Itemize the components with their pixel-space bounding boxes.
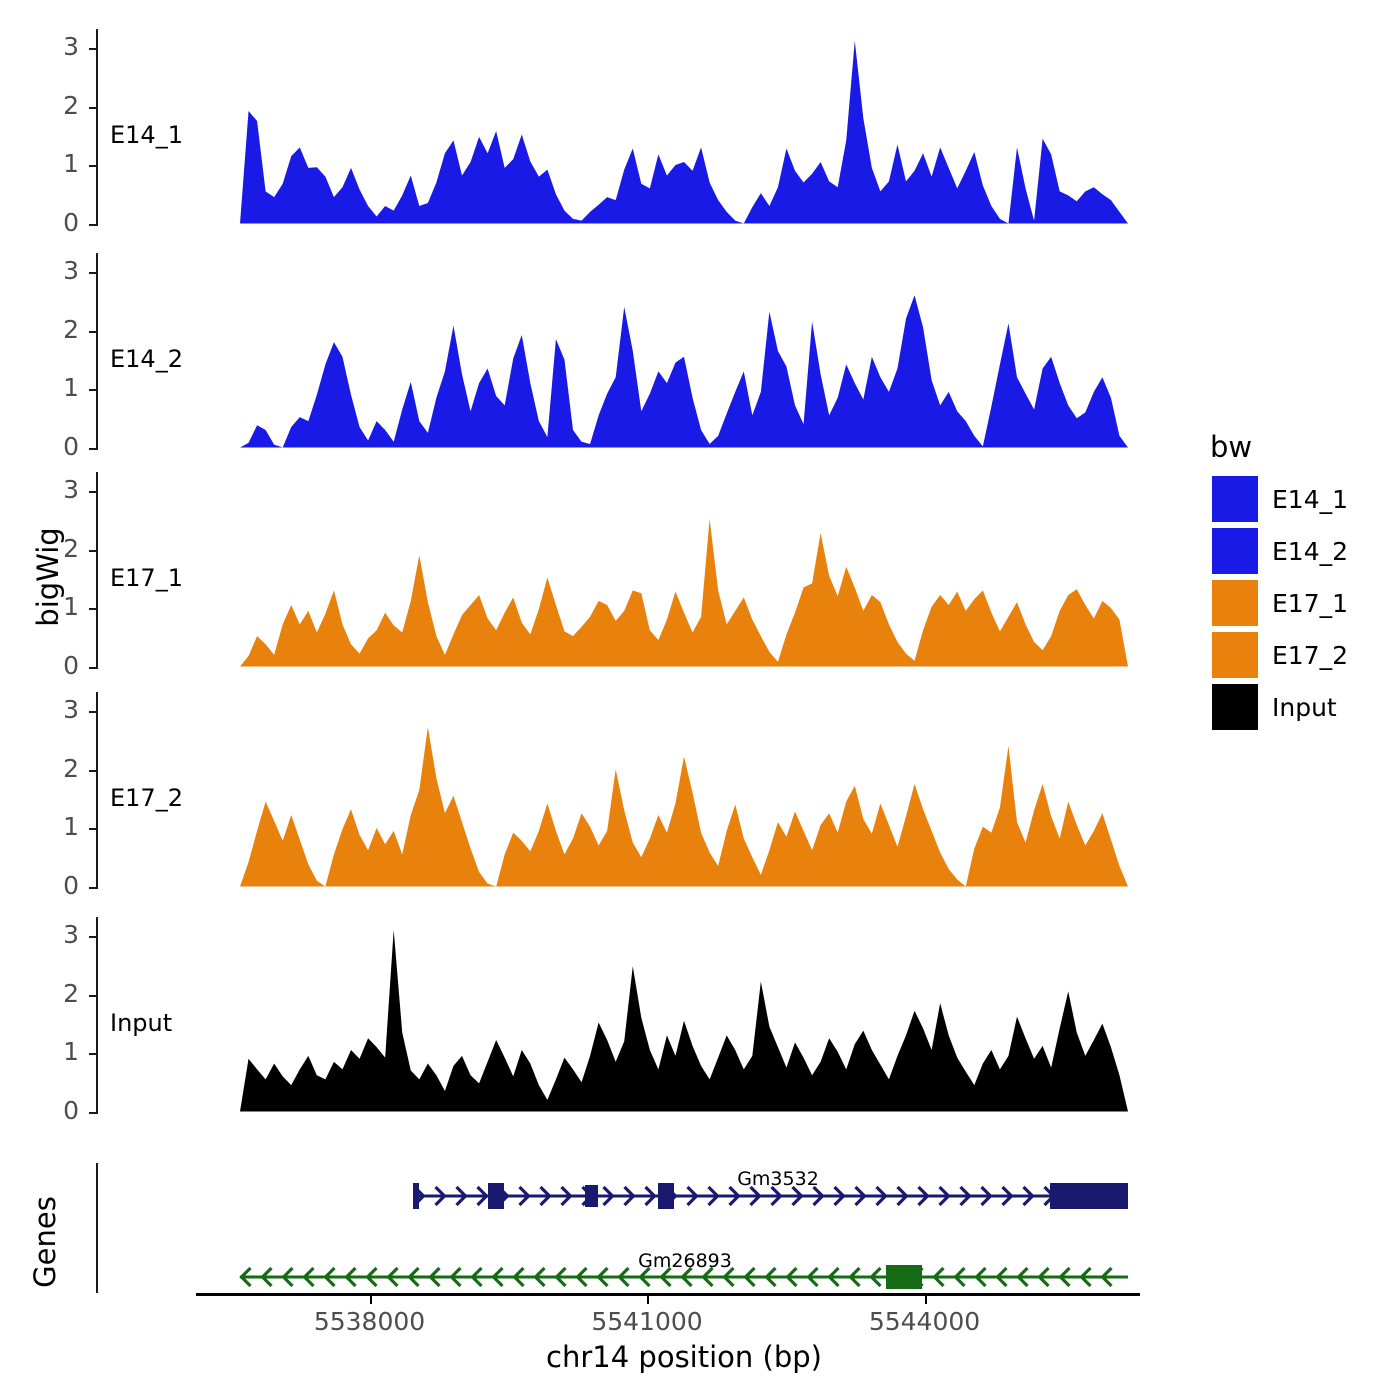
y-axis-line — [96, 917, 98, 1114]
legend-key-e14_2[interactable] — [1212, 528, 1258, 574]
x-axis-title: chr14 position (bp) — [240, 1340, 1128, 1374]
y-tick-label: 1 — [21, 373, 79, 402]
y-tick — [89, 711, 96, 713]
y-tick — [89, 887, 96, 889]
y-tick-label: 2 — [21, 91, 79, 120]
y-tick-label: 3 — [21, 475, 79, 504]
y-tick — [89, 1112, 96, 1114]
y-tick-label: 1 — [21, 812, 79, 841]
y-tick-label: 2 — [21, 315, 79, 344]
x-tick — [647, 1296, 649, 1304]
y-tick — [89, 448, 96, 450]
y-tick — [89, 491, 96, 493]
y-tick — [89, 389, 96, 391]
y-tick — [89, 224, 96, 226]
y-tick-label: 2 — [21, 979, 79, 1008]
y-tick — [89, 667, 96, 669]
y-tick — [89, 331, 96, 333]
track-area-input — [240, 917, 1128, 1114]
y-tick-label: 0 — [21, 651, 79, 680]
genes-axis-title: Genes — [28, 1172, 62, 1312]
y-tick-label: 0 — [21, 871, 79, 900]
x-tick-label: 5541000 — [557, 1307, 737, 1336]
y-tick — [89, 272, 96, 274]
x-tick — [925, 1296, 927, 1304]
y-tick — [89, 107, 96, 109]
legend-key-e14_1[interactable] — [1212, 476, 1258, 522]
y-axis-line — [96, 692, 98, 889]
y-axis-line — [96, 253, 98, 450]
y-axis-title: bigWig — [31, 507, 65, 647]
legend-key-input[interactable] — [1212, 684, 1258, 730]
gene-exon — [886, 1265, 922, 1289]
gene-model-gm26893[interactable] — [240, 1265, 1128, 1289]
track-label-e17_1: E17_1 — [110, 564, 183, 592]
gene-exon — [658, 1183, 674, 1209]
x-axis-line — [196, 1293, 1140, 1296]
y-axis-line — [96, 472, 98, 669]
x-tick — [370, 1296, 372, 1304]
y-tick — [89, 770, 96, 772]
track-label-e14_1: E14_1 — [110, 121, 183, 149]
track-area-e17_2 — [240, 692, 1128, 889]
legend-label-e14_2: E14_2 — [1272, 537, 1348, 566]
y-tick — [89, 608, 96, 610]
y-tick-label: 3 — [21, 695, 79, 724]
x-tick-label: 5544000 — [835, 1307, 1015, 1336]
legend-key-e17_1[interactable] — [1212, 580, 1258, 626]
y-tick-label: 3 — [21, 256, 79, 285]
legend-label-input: Input — [1272, 693, 1337, 722]
legend-label-e17_1: E17_1 — [1272, 589, 1348, 618]
y-axis-line — [96, 29, 98, 226]
bigwig-genome-browser-figure: bigWig Genes 0123E14_10123E14_20123E17_1… — [0, 0, 1400, 1400]
y-tick-label: 1 — [21, 1037, 79, 1066]
y-tick-label: 0 — [21, 432, 79, 461]
legend: bw E14_1E14_2E17_1E17_2Input — [1210, 430, 1400, 720]
track-label-input: Input — [110, 1009, 172, 1037]
track-label-e14_2: E14_2 — [110, 345, 183, 373]
gene-exon — [413, 1183, 419, 1209]
x-tick-label: 5538000 — [280, 1307, 460, 1336]
y-tick — [89, 1053, 96, 1055]
y-tick-label: 1 — [21, 149, 79, 178]
gene-model-gm3532[interactable] — [413, 1183, 1128, 1209]
legend-title: bw — [1210, 430, 1252, 464]
y-tick-label: 3 — [21, 32, 79, 61]
track-area-e17_1 — [240, 472, 1128, 669]
y-tick — [89, 936, 96, 938]
gene-exon — [488, 1183, 504, 1209]
gene-label-gm3532: Gm3532 — [658, 1168, 898, 1190]
legend-label-e14_1: E14_1 — [1272, 485, 1348, 514]
gene-exon — [585, 1185, 598, 1207]
legend-key-e17_2[interactable] — [1212, 632, 1258, 678]
track-label-e17_2: E17_2 — [110, 784, 183, 812]
gene-exon — [1050, 1183, 1128, 1209]
y-tick — [89, 165, 96, 167]
track-area-e14_1 — [240, 29, 1128, 226]
y-tick — [89, 550, 96, 552]
y-tick-label: 1 — [21, 592, 79, 621]
y-tick-label: 2 — [21, 534, 79, 563]
y-tick-label: 2 — [21, 754, 79, 783]
y-tick — [89, 48, 96, 50]
y-tick-label: 0 — [21, 208, 79, 237]
y-tick-label: 3 — [21, 920, 79, 949]
y-tick — [89, 828, 96, 830]
y-tick-label: 0 — [21, 1096, 79, 1125]
genes-axis-line — [96, 1163, 98, 1293]
track-area-e14_2 — [240, 253, 1128, 450]
y-tick — [89, 995, 96, 997]
gene-label-gm26893: Gm26893 — [565, 1250, 805, 1272]
legend-label-e17_2: E17_2 — [1272, 641, 1348, 670]
